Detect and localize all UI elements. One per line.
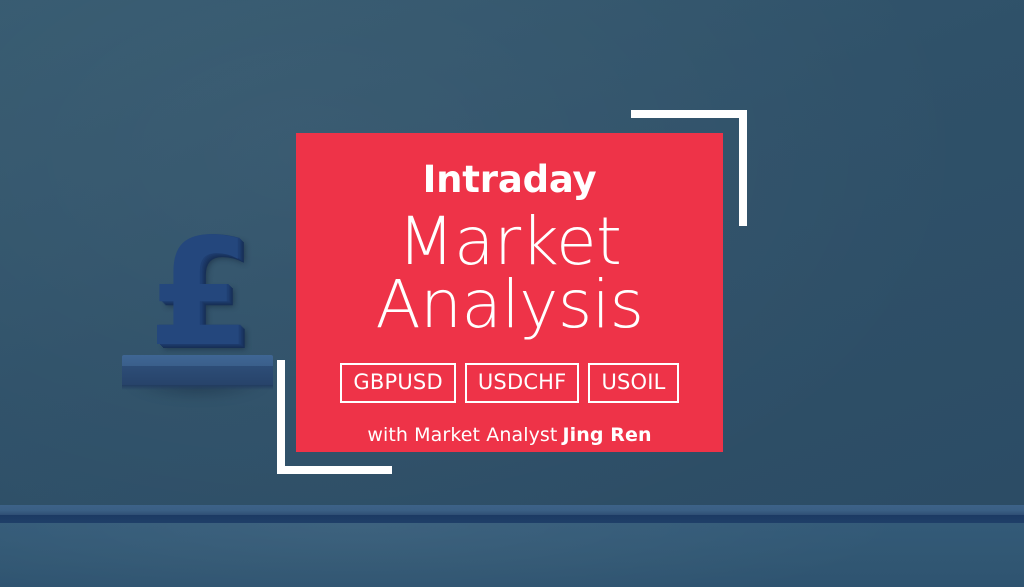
corner-bracket-bottom-left-horizontal <box>277 466 392 474</box>
analyst-name: Jing Ren <box>562 424 651 446</box>
instrument-badge-usdchf[interactable]: USDCHF <box>465 363 580 403</box>
corner-bracket-bottom-left-vertical <box>277 360 285 474</box>
promo-card: Intraday Market Analysis GBPUSD USDCHF U… <box>296 133 723 452</box>
card-title-line-2: Analysis <box>376 273 644 336</box>
instrument-badge-list: GBPUSD USDCHF USOIL <box>340 363 678 403</box>
shelf-top-surface <box>122 355 273 366</box>
corner-bracket-top-right-vertical <box>739 110 747 226</box>
analyst-byline: with Market AnalystJing Ren <box>367 424 651 446</box>
shelf-bottom-bevel <box>122 385 273 390</box>
instrument-badge-usoil[interactable]: USOIL <box>588 363 678 403</box>
shelf-front-face <box>122 366 273 385</box>
floor-background <box>0 523 1024 587</box>
promo-banner: £ Intraday Market Analysis GBPUSD USDCHF… <box>0 0 1024 587</box>
pound-sterling-symbol: £ <box>148 228 244 358</box>
analyst-byline-prefix: with Market Analyst <box>367 424 557 446</box>
card-kicker: Intraday <box>423 161 597 200</box>
corner-bracket-top-right-horizontal <box>631 110 747 118</box>
skirting-board-highlight <box>0 505 1024 515</box>
card-title: Market Analysis <box>376 210 644 337</box>
card-title-line-1: Market <box>376 210 644 273</box>
skirting-board-shadow <box>0 515 1024 523</box>
instrument-badge-gbpusd[interactable]: GBPUSD <box>340 363 455 403</box>
